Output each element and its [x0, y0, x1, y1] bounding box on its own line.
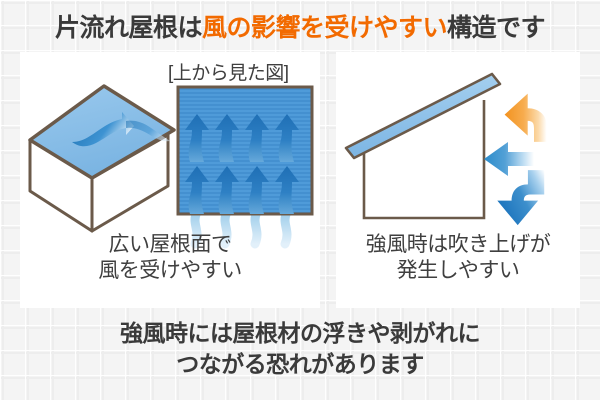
downdraft-arrow	[497, 170, 544, 225]
right-caption-line1: 強風時は吹き上げが	[336, 232, 580, 258]
title-highlight: 風の影響を受けやすい	[202, 14, 447, 42]
bottom-summary-text: 強風時には屋根材の浮きや剥がれに つながる恐れがあります	[0, 318, 600, 380]
side-view-house-illustration	[342, 70, 574, 238]
right-caption-line2: 発生しやすい	[336, 258, 580, 284]
left-caption-line1: 広い屋根面で	[20, 232, 320, 258]
panel-left: [上から見た図]	[20, 52, 320, 308]
isometric-roof-illustration	[22, 78, 182, 243]
right-caption: 強風時は吹き上げが 発生しやすい	[336, 232, 580, 283]
title-part2: 構造です	[447, 14, 545, 42]
title-part1: 片流れ屋根は	[55, 14, 202, 42]
wind-arrow	[484, 142, 534, 176]
top-view-label: [上から見た図]	[168, 58, 289, 85]
infographic-root: 片流れ屋根は風の影響を受けやすい構造です [上から見た図]	[0, 0, 600, 400]
page-title: 片流れ屋根は風の影響を受けやすい構造です	[0, 8, 600, 44]
bottom-text-line2: つながる恐れがあります	[0, 349, 600, 380]
left-caption: 広い屋根面で 風を受けやすい	[20, 232, 320, 283]
uplift-arrow	[505, 94, 547, 142]
bottom-text-line1: 強風時には屋根材の浮きや剥がれに	[0, 318, 600, 349]
left-caption-line2: 風を受けやすい	[20, 258, 320, 284]
roof-slab	[346, 74, 500, 158]
panel-right: 強風時は吹き上げが 発生しやすい	[336, 52, 580, 308]
